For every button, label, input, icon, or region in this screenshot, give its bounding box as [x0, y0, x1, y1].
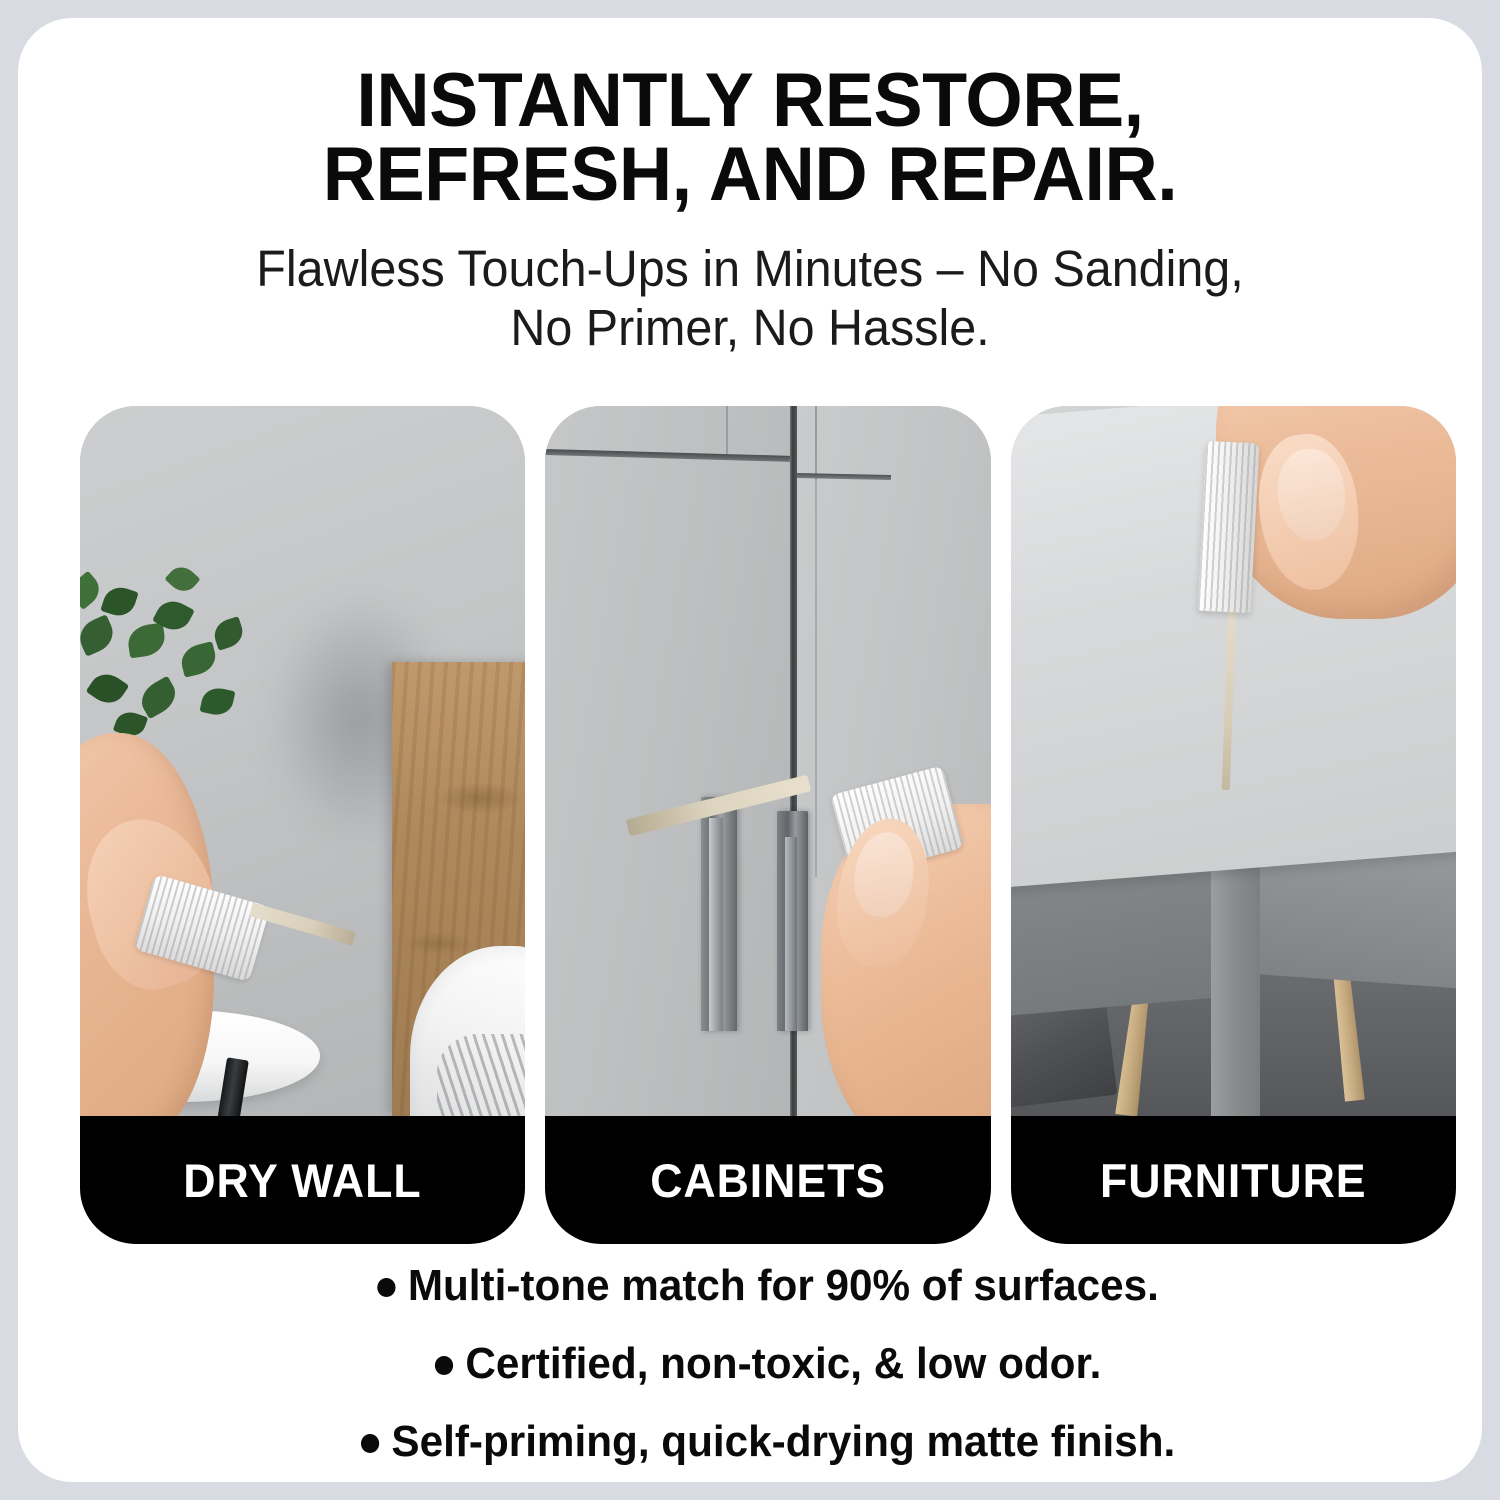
infographic-page: INSTANTLY RESTORE, REFRESH, AND REPAIR. …: [0, 0, 1500, 1500]
feature-bullet-list: Multi-tone match for 90% of surfaces. Ce…: [80, 1264, 1456, 1464]
content-card: INSTANTLY RESTORE, REFRESH, AND REPAIR. …: [18, 18, 1482, 1482]
list-item-label: Certified, non-toxic, & low odor.: [465, 1339, 1101, 1388]
list-item: Multi-tone match for 90% of surfaces.: [108, 1264, 1429, 1308]
touch-up-pen-cap: [1198, 440, 1260, 613]
page-title: INSTANTLY RESTORE, REFRESH, AND REPAIR.: [108, 64, 1392, 213]
cabinet-groove-lower-right: [815, 480, 817, 878]
use-case-label-dry-wall: DRY WALL: [184, 1153, 422, 1208]
bullet-dot-icon: [377, 1278, 395, 1297]
subhead-line-2: No Primer, No Hassle.: [121, 299, 1379, 358]
bullet-dot-icon: [435, 1356, 453, 1375]
cabinet-door-left: [545, 406, 790, 1116]
photo-dry-wall: [80, 406, 525, 1116]
subhead-line-1: Flawless Touch-Ups in Minutes – No Sandi…: [121, 240, 1379, 299]
list-item: Self-priming, quick-drying matte finish.: [108, 1420, 1429, 1464]
photo-furniture: [1011, 406, 1456, 1116]
use-case-label-cabinets: CABINETS: [650, 1153, 886, 1208]
cabinet-handle-right: [777, 811, 808, 1031]
page-subtitle: Flawless Touch-Ups in Minutes – No Sandi…: [121, 240, 1379, 357]
photo-cabinets: [545, 406, 990, 1116]
list-item-label: Multi-tone match for 90% of surfaces.: [408, 1261, 1159, 1310]
use-case-label-strip-furniture: FURNITURE: [1011, 1116, 1456, 1244]
cabinet-handle-left: [701, 797, 737, 1031]
use-case-card-furniture: FURNITURE: [1011, 406, 1456, 1244]
use-case-label-strip-dry-wall: DRY WALL: [80, 1116, 525, 1244]
use-case-card-dry-wall: DRY WALL: [80, 406, 525, 1244]
use-case-card-cabinets: CABINETS: [545, 406, 990, 1244]
list-item-label: Self-priming, quick-drying matte finish.: [391, 1417, 1175, 1466]
bullet-dot-icon: [361, 1434, 379, 1453]
headline-line-2: REFRESH, AND REPAIR.: [108, 138, 1392, 212]
desk-corner-post: [1211, 846, 1260, 1116]
cabinet-groove-upper-left: [726, 406, 728, 460]
use-case-gallery: DRY WALL: [80, 406, 1456, 1244]
list-item: Certified, non-toxic, & low odor.: [108, 1342, 1429, 1386]
use-case-label-furniture: FURNITURE: [1100, 1153, 1367, 1208]
use-case-label-strip-cabinets: CABINETS: [545, 1116, 990, 1244]
headline-line-1: INSTANTLY RESTORE,: [108, 64, 1392, 138]
cabinet-groove-upper-right: [815, 406, 817, 480]
